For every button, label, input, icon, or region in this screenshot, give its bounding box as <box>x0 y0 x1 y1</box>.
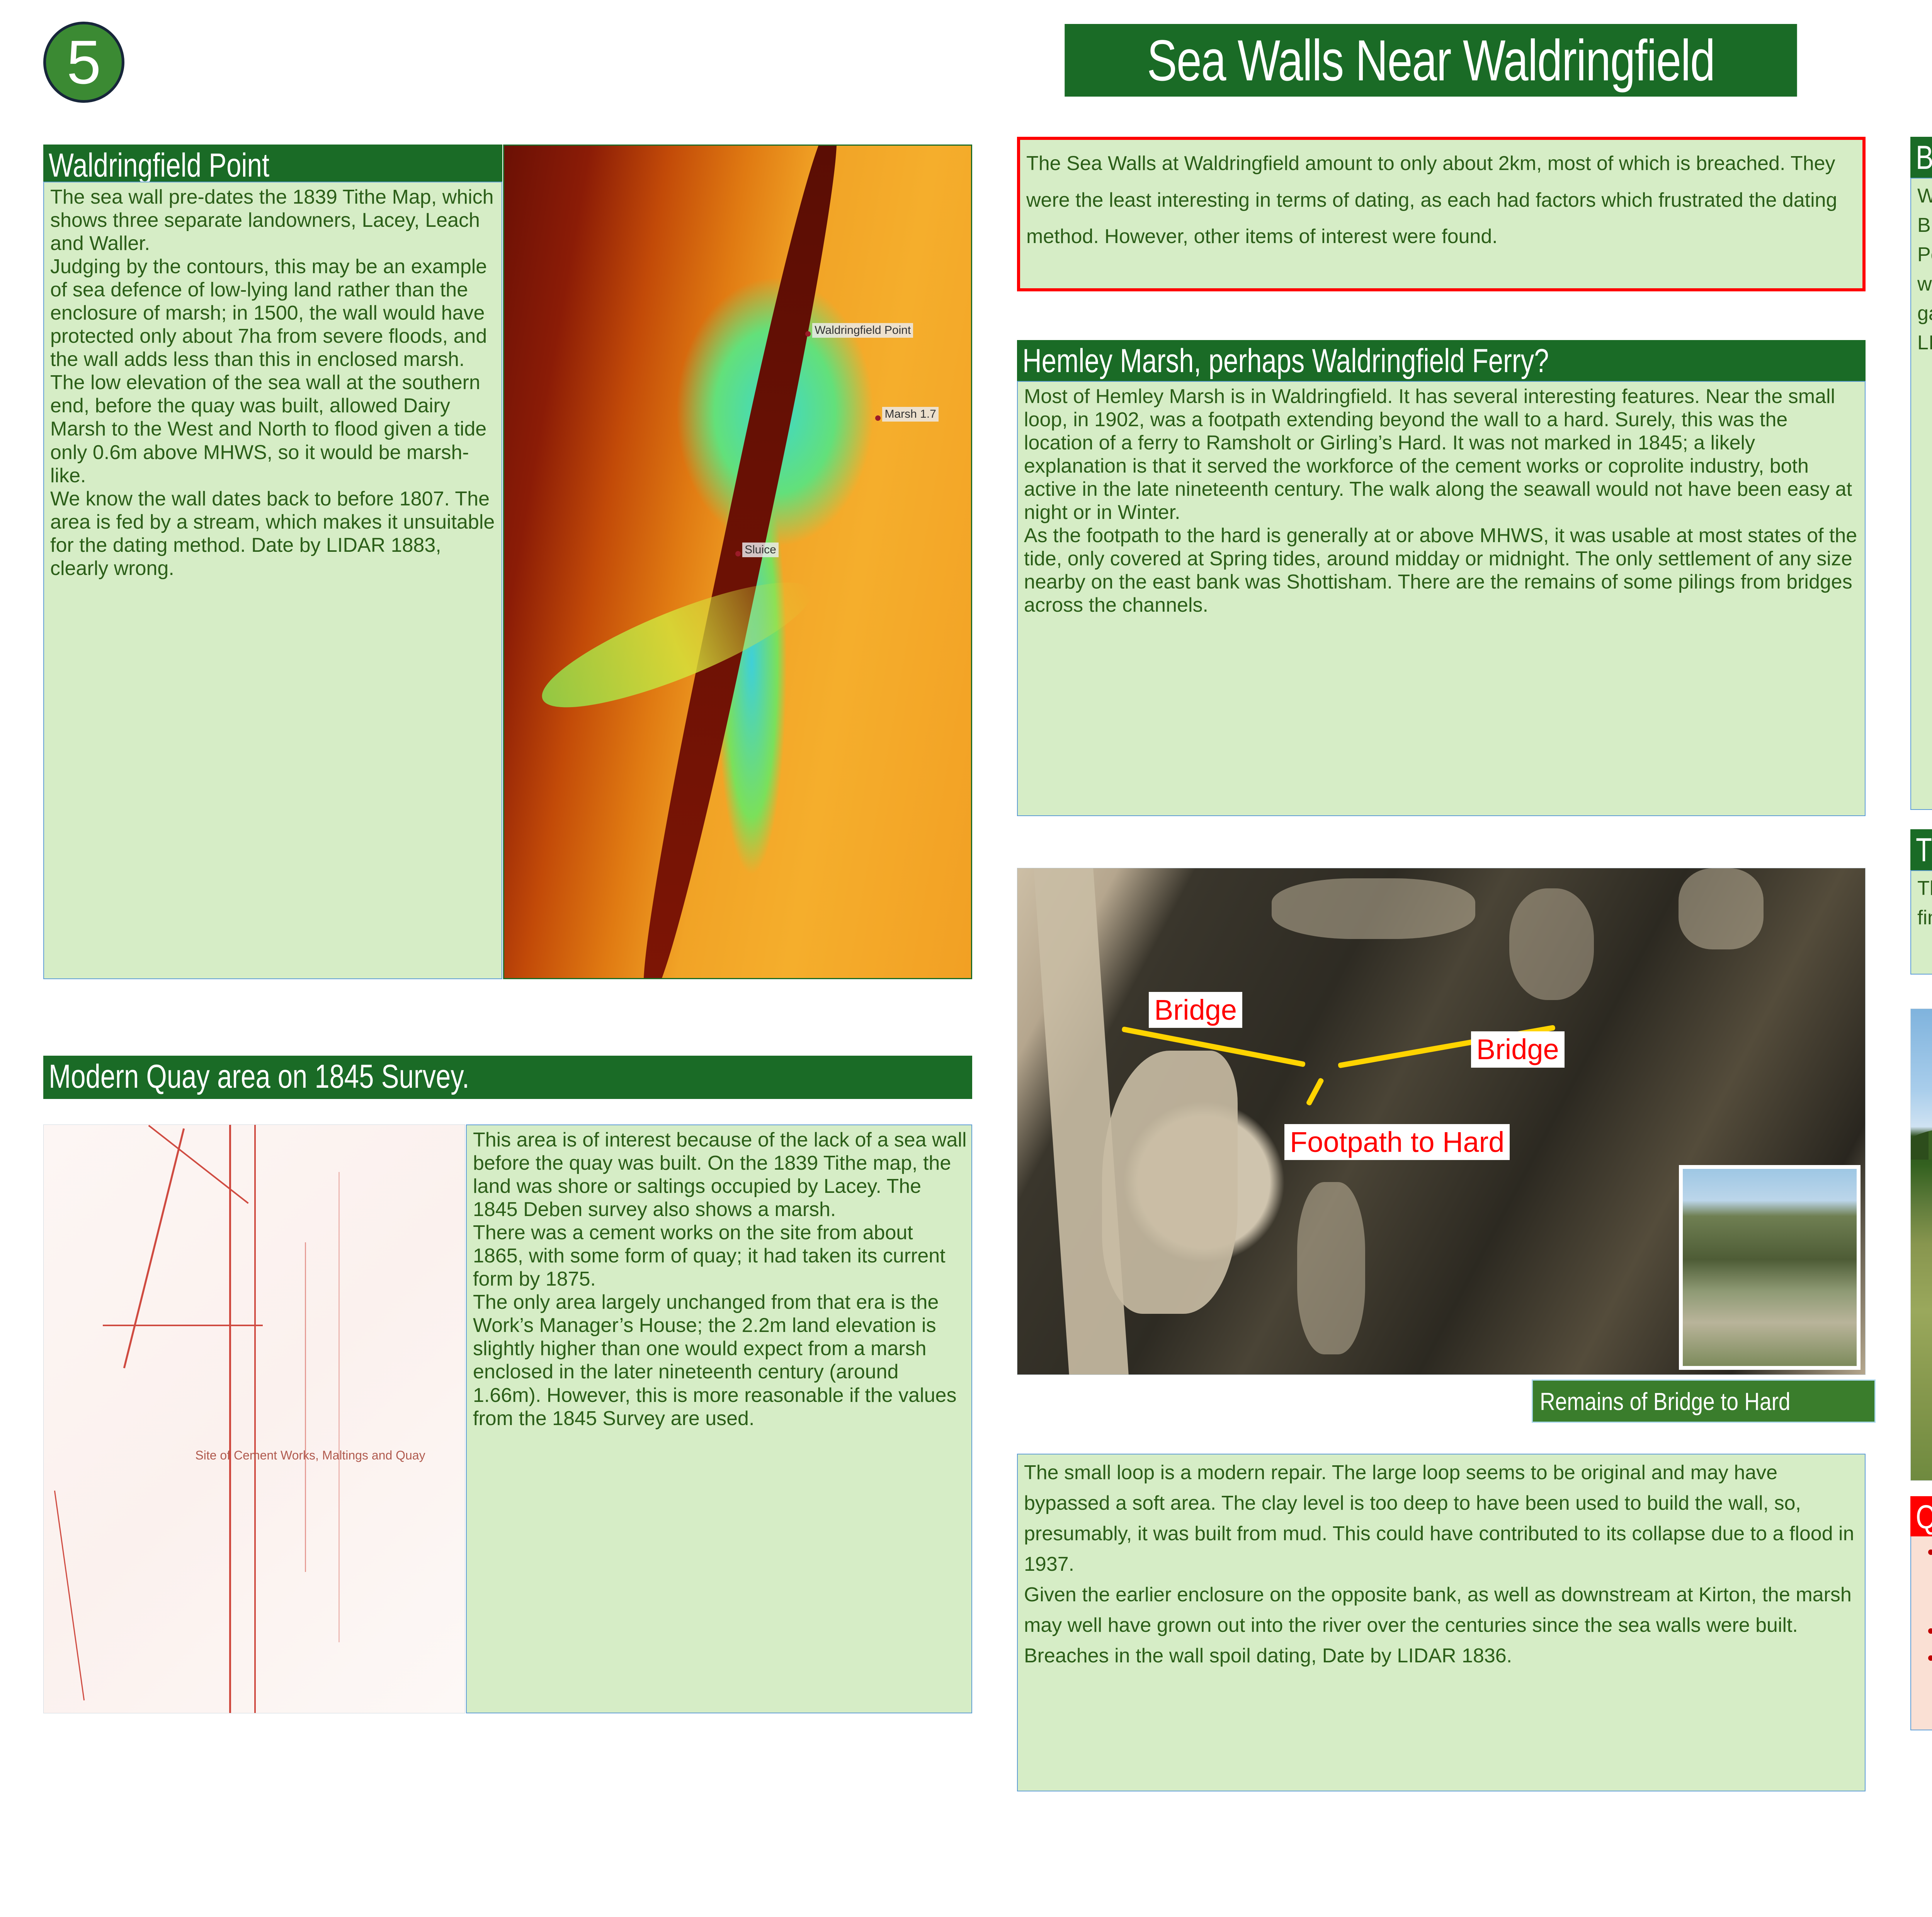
mid-bottom-para-2: Given the earlier enclosure on the oppos… <box>1024 1580 1859 1671</box>
waldringfield-point-body: The sea wall pre-dates the 1839 Tithe Ma… <box>43 182 502 979</box>
wp-para-2: Judging by the contours, this may be an … <box>50 255 497 371</box>
question-item: Why was the loop construction favoured? … <box>1925 1620 1932 1646</box>
lidar-label-marsh: Marsh 1.7 <box>882 407 938 422</box>
questions-body: The marsh at Hemley that has, presumably… <box>1910 1536 1932 1730</box>
survey-map-label: Site of Cement Works, Maltings and Quay <box>195 1448 425 1463</box>
hemley-marsh-body: Most of Hemley Marsh is in Waldringfield… <box>1017 381 1866 816</box>
survey-raster: Site of Cement Works, Maltings and Quay <box>44 1125 465 1713</box>
hm-para-2: As the footpath to the hard is generally… <box>1024 524 1860 617</box>
questions-section: Questions? The marsh at Hemley that has,… <box>1910 1496 1932 1539</box>
reservoir-body: The insignificant 150m wall near the res… <box>1910 870 1932 975</box>
question-item: How much longer do clay walls endure tha… <box>1925 1647 1932 1673</box>
section-header-modern-quay: Modern Quay area on 1845 Survey. <box>43 1056 972 1099</box>
map-label-bridge-right: Bridge <box>1471 1031 1565 1068</box>
middle-bottom-notes: The small loop is a modern repair. The l… <box>1017 1454 1866 1791</box>
section-header-reservoir: The Sea Wall by the Reservoir? <box>1910 829 1932 873</box>
bw-para-1: W.G. Arnott suggests that this was from … <box>1917 182 1932 357</box>
mq-para-3: The only area largely unchanged from tha… <box>473 1291 967 1430</box>
burrells-long-wall-title: Burrell’s Long Wall <box>1916 139 1932 176</box>
lidar-raster <box>504 146 971 978</box>
reservoir-title: The Sea Wall by the Reservoir? <box>1916 832 1932 869</box>
section-header-burrells-long-wall: Burrell’s Long Wall <box>1910 137 1932 180</box>
mid-bottom-para-1: The small loop is a modern repair. The l… <box>1024 1458 1859 1580</box>
lidar-point-marker <box>735 551 741 556</box>
seawall-path-photo <box>1910 1009 1932 1481</box>
middle-column: The Sea Walls at Waldringfield amount to… <box>1017 137 1866 291</box>
questions-title: Questions? <box>1916 1499 1932 1536</box>
right-column: Burrell’s Long Wall W.G. Arnott suggests… <box>1910 137 1932 180</box>
seawall-photo-raster <box>1911 1009 1932 1480</box>
tree-line <box>1911 1112 1932 1160</box>
questions-list: The marsh at Hemley that has, presumably… <box>1925 1541 1932 1673</box>
modern-quay-body: This area is of interest because of the … <box>466 1124 972 1713</box>
modern-quay-section: Modern Quay area on 1845 Survey. Site of… <box>43 1056 972 1099</box>
caption-text: Remains of Bridge to Hard <box>1540 1381 1791 1422</box>
creek-shape <box>1102 1051 1238 1314</box>
wp-para-3: The low elevation of the sea wall at the… <box>50 371 497 487</box>
waldringfield-point-title: Waldringfield Point <box>49 147 269 184</box>
hemley-marsh-title: Hemley Marsh, perhaps Waldringfield Ferr… <box>1022 342 1549 379</box>
burrells-long-wall-body: W.G. Arnott suggests that this was from … <box>1910 178 1932 810</box>
inset-photo-bridge-remains <box>1679 1165 1861 1370</box>
creek-shape <box>1679 868 1763 949</box>
creek-shape <box>1509 888 1594 1000</box>
lidar-label-waldringfield-point: Waldringfield Point <box>812 323 913 338</box>
section-header-questions: Questions? <box>1910 1496 1932 1539</box>
aerial-photo-hemley-marsh: Bridge Bridge Footpath to Hard <box>1017 868 1866 1375</box>
res-para-1: The insignificant 150m wall near the res… <box>1917 874 1932 933</box>
footpath-line <box>1306 1077 1324 1106</box>
intro-callout-box: The Sea Walls at Waldringfield amount to… <box>1017 137 1866 291</box>
hemley-marsh-section: Hemley Marsh, perhaps Waldringfield Ferr… <box>1017 340 1866 383</box>
section-header-hemley-marsh: Hemley Marsh, perhaps Waldringfield Ferr… <box>1017 340 1866 383</box>
caption-remains-of-bridge: Remains of Bridge to Hard <box>1532 1379 1876 1423</box>
wp-para-1: The sea wall pre-dates the 1839 Tithe Ma… <box>50 185 497 255</box>
creek-shape <box>1297 1182 1365 1354</box>
survey-map-1845: Site of Cement Works, Maltings and Quay <box>43 1124 465 1713</box>
page-title: Sea Walls Near Waldringfield <box>1065 24 1797 97</box>
lidar-elevation-map: Waldringfield Point Marsh 1.7 Sluice <box>503 145 972 979</box>
hm-para-1: Most of Hemley Marsh is in Waldringfield… <box>1024 385 1860 524</box>
mq-para-1: This area is of interest because of the … <box>473 1128 967 1221</box>
reservoir-section: The Sea Wall by the Reservoir? The insig… <box>1910 829 1932 873</box>
intro-text: The Sea Walls at Waldringfield amount to… <box>1026 152 1837 248</box>
mq-para-2: There was a cement works on the site fro… <box>473 1221 967 1291</box>
modern-quay-title: Modern Quay area on 1845 Survey. <box>49 1058 469 1095</box>
question-item: The marsh at Hemley that has, presumably… <box>1925 1541 1932 1618</box>
lidar-label-sluice: Sluice <box>742 543 779 557</box>
map-label-footpath-to-hard: Footpath to Hard <box>1284 1124 1510 1160</box>
aerial-raster: Bridge Bridge Footpath to Hard <box>1017 868 1865 1374</box>
poster-page: 5 Sea Walls Near Waldringfield Waldringf… <box>0 0 1932 1917</box>
wp-para-4: We know the wall dates back to before 18… <box>50 487 497 580</box>
left-column: Waldringfield Point The sea wall pre-dat… <box>43 145 972 188</box>
creek-shape <box>1272 878 1475 939</box>
map-label-bridge-left: Bridge <box>1149 992 1242 1028</box>
page-number-badge: 5 <box>43 22 124 103</box>
